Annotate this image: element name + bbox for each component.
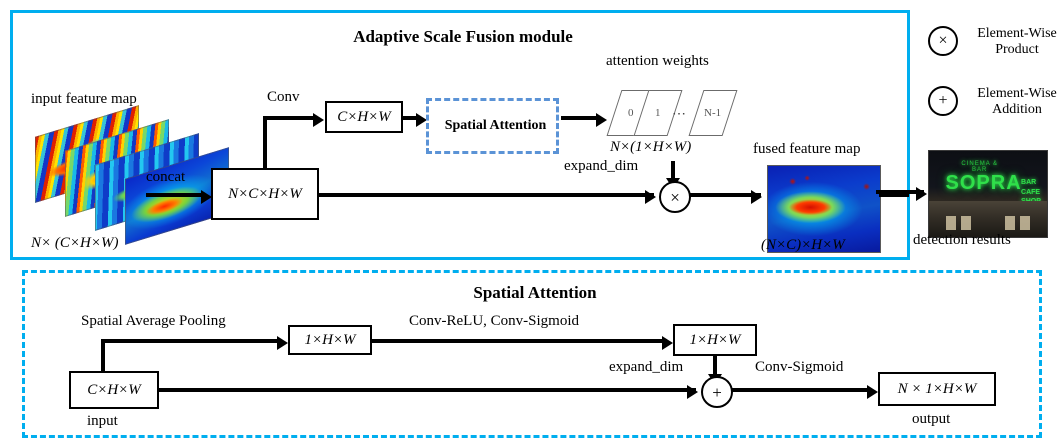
sa-output-box: N × 1×H×W	[878, 372, 996, 406]
sa-input-caption: input	[87, 413, 118, 430]
sa-expand-dim-label: expand_dim	[609, 359, 683, 376]
attention-slice-n-1: N-1	[689, 90, 738, 136]
spatial-attention-inline-title: Spatial Attention	[429, 118, 562, 134]
sa-main-line	[159, 388, 696, 392]
sa-output-line	[731, 388, 871, 392]
main-flow-arrow-head	[645, 190, 656, 204]
attention-slices-ellipsis: ⋯	[672, 106, 687, 123]
adaptive-scale-fusion-panel: Adaptive Scale Fusion module input featu…	[10, 10, 910, 260]
expand-dim-label: expand_dim	[564, 158, 638, 175]
legend-product-symbol: ×	[938, 33, 947, 49]
legend-item-addition: + Element-Wise Addition	[928, 86, 1058, 118]
sa-input-box: C×H×W	[69, 371, 159, 409]
conv-branch-vline	[263, 116, 267, 170]
attention-dim-caption: N×(1×H×W)	[610, 139, 691, 156]
attention-slice-n-1-label: N-1	[704, 107, 721, 119]
main-flow-line	[319, 193, 654, 197]
sa-attn-box: 1×H×W	[673, 324, 757, 356]
element-wise-addition-operator: +	[701, 376, 733, 408]
input-feature-map-label: input feature map	[31, 91, 137, 108]
conv-branch-arrow-head	[313, 113, 324, 127]
sa-conv-line	[372, 339, 667, 343]
detection-side-text-1: BAR	[1021, 179, 1036, 186]
legend-addition-symbol: +	[938, 93, 947, 109]
input-dim-caption: N× (C×H×W)	[31, 235, 118, 252]
sa-conv-arrow-head	[662, 336, 673, 350]
sa-pooling-label: Spatial Average Pooling	[81, 313, 226, 330]
sa-conv-relu-sigmoid-label: Conv-ReLU, Conv-Sigmoid	[409, 313, 579, 330]
legend-addition-line2: Addition	[968, 102, 1058, 118]
fused-dim-caption: (N×C)×H×W	[761, 237, 845, 254]
attention-slice-0-label: 0	[628, 107, 634, 119]
conv-branch-hline	[263, 116, 315, 120]
legend-addition-text: Element-Wise Addition	[968, 86, 1058, 118]
asf-panel-title: Adaptive Scale Fusion module	[13, 27, 913, 47]
detection-bridge-arrow-head	[916, 187, 927, 201]
conv-label: Conv	[267, 89, 300, 106]
sa-pooled-box: 1×H×W	[288, 325, 372, 355]
figure-canvas: Adaptive Scale Fusion module input featu…	[0, 0, 1058, 448]
detection-results-image: CINEMA & BAR SOPRA BAR CAFE SHOP	[928, 150, 1048, 238]
concat-label: concat	[146, 169, 185, 186]
legend-addition-icon: +	[928, 86, 958, 116]
detection-window-4	[1020, 216, 1031, 230]
sa-output-arrow-head	[867, 385, 878, 399]
sa-output-caption: output	[912, 411, 950, 428]
sa-main-arrow-head	[687, 385, 698, 399]
element-wise-product-operator: ×	[659, 181, 691, 213]
attention-weights-label: attention weights	[606, 53, 709, 70]
spatial-attention-panel-title: Spatial Attention	[25, 283, 1045, 303]
conv-output-box: C×H×W	[325, 101, 403, 133]
legend-product-line1: Element-Wise	[968, 26, 1058, 42]
attention-slice-1-label: 1	[655, 107, 661, 119]
detection-sign-text: SOPRA	[946, 170, 1017, 196]
detection-window-2	[961, 216, 972, 230]
legend-item-product: × Element-Wise Product	[928, 26, 1058, 58]
legend-product-icon: ×	[928, 26, 958, 56]
spatial-attention-panel: Spatial Attention C×H×W input Spatial Av…	[22, 270, 1042, 438]
addition-operator-symbol: +	[712, 384, 722, 401]
sa-conv-sigmoid-label: Conv-Sigmoid	[755, 359, 843, 376]
sa-pooling-vline	[101, 339, 105, 373]
legend-product-text: Element-Wise Product	[968, 26, 1058, 58]
concat-arrow-line	[146, 193, 201, 197]
detection-side-text-2: CAFE	[1021, 189, 1040, 196]
attention-weights-in-arrow-head	[596, 113, 607, 127]
legend-addition-line1: Element-Wise	[968, 86, 1058, 102]
fused-in-arrow-head	[751, 190, 762, 204]
sa-pooling-arrow-head	[277, 336, 288, 350]
detection-window-1	[946, 216, 957, 230]
attention-weights-in-line	[561, 116, 599, 120]
spatial-attention-inline-box: Spatial Attention	[426, 98, 559, 154]
product-operator-symbol: ×	[670, 189, 680, 206]
detection-window-3	[1005, 216, 1016, 230]
fused-feature-map-label: fused feature map	[753, 141, 860, 158]
concat-output-box: N×C×H×W	[211, 168, 319, 220]
legend-product-line2: Product	[968, 42, 1058, 58]
sa-pooling-hline	[101, 339, 281, 343]
detection-results-label: detection results	[913, 232, 1011, 249]
